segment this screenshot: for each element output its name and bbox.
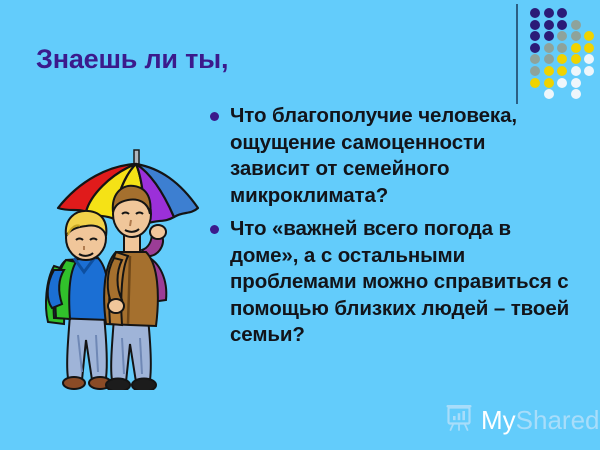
decoration-dot: [544, 31, 554, 41]
decoration-dot: [584, 54, 594, 64]
decoration-dot: [571, 78, 581, 88]
decoration-dot: [544, 66, 554, 76]
bullet-list: Что благополучие человека, ощущение само…: [205, 103, 570, 356]
decoration-dot: [530, 8, 540, 18]
list-item-label: Что благополучие человека, ощущение само…: [230, 104, 517, 207]
decoration-dot: [584, 43, 594, 53]
bullet-dot-icon: [210, 112, 219, 121]
watermark-text-primary: My: [481, 405, 516, 435]
watermark-text-secondary: Shared: [516, 405, 600, 435]
decoration-dot: [557, 54, 567, 64]
decoration-dot: [557, 31, 567, 41]
decoration-dot: [557, 66, 567, 76]
decoration-dot: [571, 89, 581, 99]
decoration-dot: [530, 31, 540, 41]
page-title: Знаешь ли ты,: [36, 44, 228, 75]
bullet-dot-icon: [210, 225, 219, 234]
dot-grid-decoration: [506, 0, 600, 108]
decoration-dot: [557, 8, 567, 18]
boy-figure: [46, 211, 111, 389]
decoration-dot: [544, 78, 554, 88]
decoration-dot: [544, 43, 554, 53]
watermark: MyShared: [444, 400, 600, 440]
decoration-dot: [571, 43, 581, 53]
decoration-dot: [530, 20, 540, 30]
decoration-dot: [557, 20, 567, 30]
decoration-dot: [557, 43, 567, 53]
decoration-dot: [544, 89, 554, 99]
decoration-dot: [530, 43, 540, 53]
watermark-text: MyShared: [481, 407, 600, 433]
slide-canvas: Знаешь ли ты, Что благополучие человека,…: [0, 0, 600, 450]
decoration-dot: [571, 66, 581, 76]
decoration-dot: [571, 20, 581, 30]
decoration-dot: [530, 78, 540, 88]
list-item-label: Что «важней всего погода в доме», а с ос…: [230, 217, 569, 346]
decoration-dot: [571, 54, 581, 64]
decoration-dot: [530, 66, 540, 76]
decoration-dot: [571, 31, 581, 41]
decoration-dot: [557, 78, 567, 88]
list-item: Что благополучие человека, ощущение само…: [205, 103, 570, 209]
vertical-rule: [516, 4, 518, 104]
decoration-dot: [584, 31, 594, 41]
list-item: Что «важней всего погода в доме», а с ос…: [205, 216, 570, 349]
decoration-dot: [584, 66, 594, 76]
decoration-dot: [544, 8, 554, 18]
decoration-dot: [544, 20, 554, 30]
dot-grid: [530, 8, 600, 100]
decoration-dot: [544, 54, 554, 64]
man-and-boy-under-umbrella-illustration: [18, 140, 208, 390]
decoration-dot: [530, 54, 540, 64]
presentation-chart-icon: [444, 403, 474, 438]
